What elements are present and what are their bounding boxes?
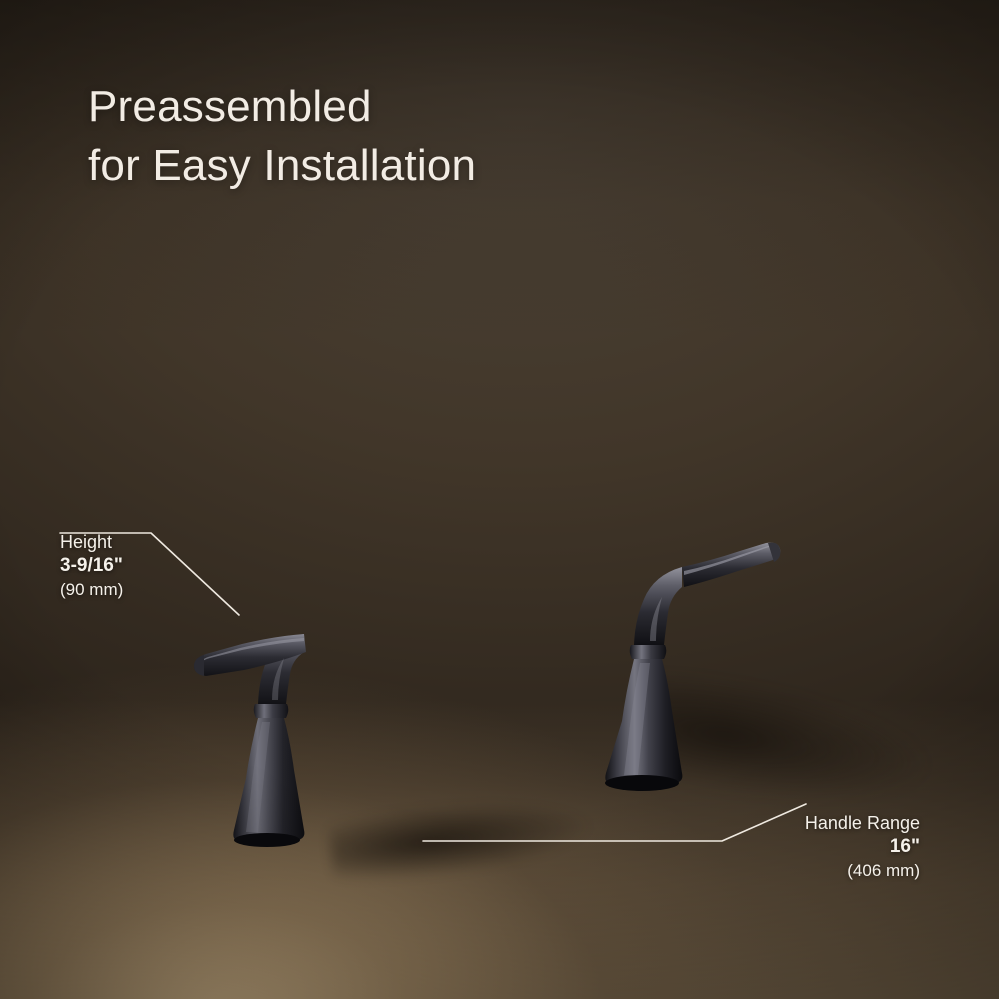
callout-height-metric: (90 mm) bbox=[60, 579, 123, 601]
callout-range-value: 16" bbox=[700, 835, 920, 859]
callout-range-label: Handle Range bbox=[805, 813, 920, 833]
callout-range-metric: (406 mm) bbox=[700, 860, 920, 882]
callout-height-label: Height bbox=[60, 532, 112, 552]
headline-line-1: Preassembled bbox=[88, 82, 372, 131]
callout-height: Height 3-9/16" (90 mm) bbox=[60, 531, 123, 601]
callout-height-value: 3-9/16" bbox=[60, 554, 123, 578]
product-photo-scene: Preassembled for Easy Installation Heigh… bbox=[0, 0, 999, 999]
callout-handle-range: Handle Range 16" (406 mm) bbox=[700, 812, 920, 882]
page-title: Preassembled for Easy Installation bbox=[88, 78, 476, 196]
headline-line-2: for Easy Installation bbox=[88, 137, 476, 196]
